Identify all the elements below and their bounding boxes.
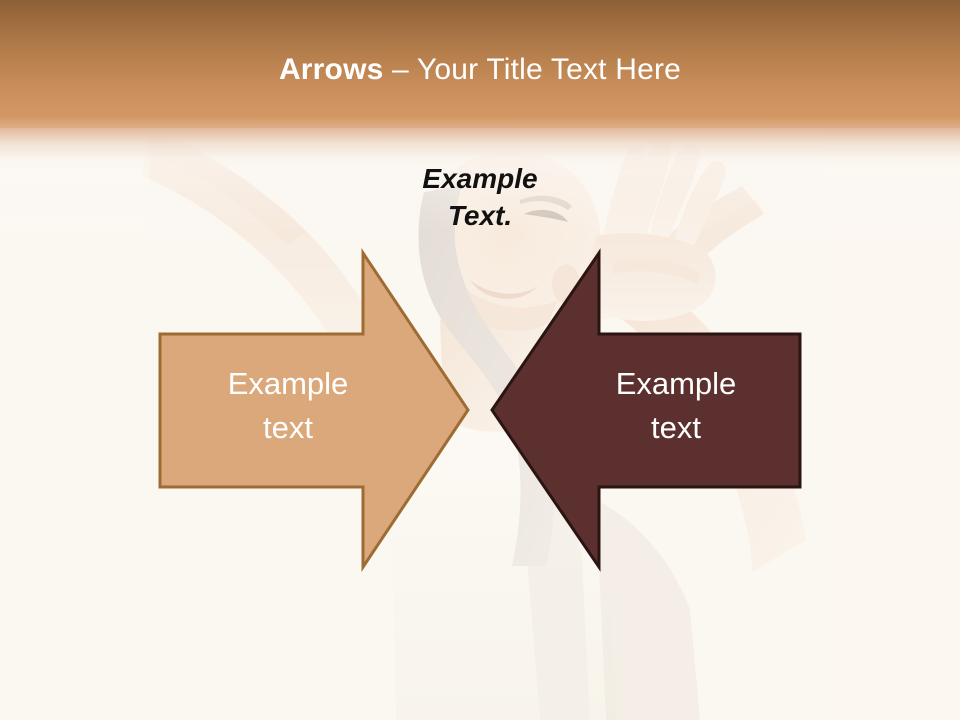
left-arrow-label: Example text [178,362,398,450]
right-arrow-label-line1: Example [566,362,786,406]
left-arrow-label-line2: text [178,406,398,450]
right-arrow-label-line2: text [566,406,786,450]
page-title: Arrows – Your Title Text Here [0,52,960,88]
slide-canvas: Arrows – Your Title Text Here Example Te… [0,0,960,720]
right-arrow-label: Example text [566,362,786,450]
center-caption-line1: Example [380,160,580,197]
center-caption: Example Text. [380,160,580,234]
center-caption-line2: Text. [380,197,580,234]
left-arrow-label-line1: Example [178,362,398,406]
page-title-rest: – Your Title Text Here [384,53,682,86]
page-title-bold: Arrows [279,53,384,86]
